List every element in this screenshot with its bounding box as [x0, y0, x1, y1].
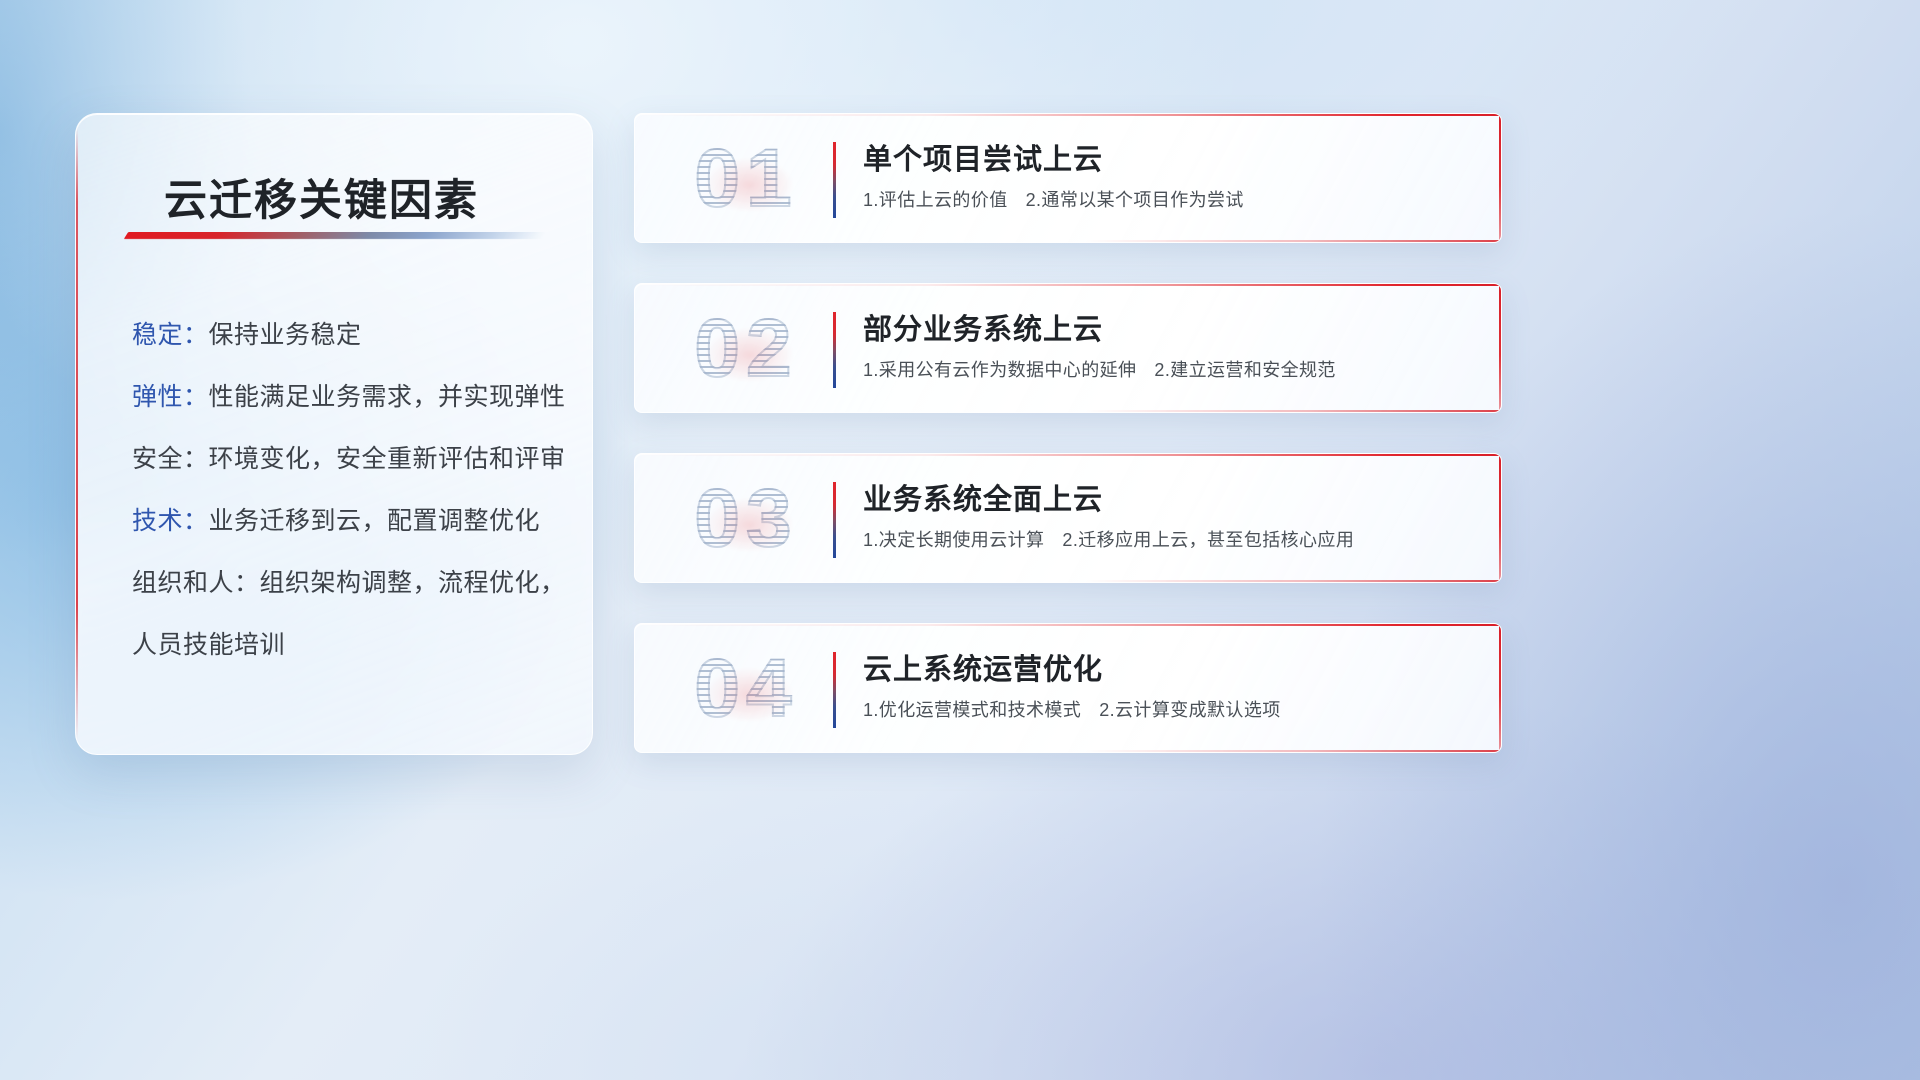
- factor-item-organization-continued: 人员技能培训: [132, 614, 564, 676]
- factor-text: 组织架构调整，流程优化，: [260, 569, 566, 597]
- card-bottom-accent-line: [635, 750, 1501, 752]
- factor-text: 人员技能培训: [132, 631, 285, 659]
- stage-card-04[interactable]: 04 云上系统运营优化 1.优化运营模式和技术模式2.云计算变成默认选项: [634, 623, 1502, 753]
- migration-stage-cards: 01 单个项目尝试上云 1.评估上云的价值2.通常以某个项目作为尝试 02 部分…: [634, 113, 1504, 793]
- factor-text: 性能满足业务需求，并实现弹性: [209, 383, 566, 411]
- factor-item-technology: 技术：业务迁移到云，配置调整优化: [132, 490, 564, 552]
- card-bottom-accent-line: [635, 410, 1501, 412]
- factor-text: 保持业务稳定: [209, 321, 362, 349]
- card-right-accent-line: [1499, 624, 1501, 752]
- stage-description-part-1: 1.优化运营模式和技术模式: [863, 700, 1081, 720]
- card-divider-bar: [833, 142, 836, 218]
- panel-title: 云迁移关键因素: [164, 166, 479, 228]
- card-right-accent-line: [1499, 454, 1501, 582]
- title-underline-decoration: [124, 232, 546, 239]
- stage-heading: 业务系统全面上云: [863, 476, 1103, 518]
- stage-description: 1.决定长期使用云计算2.迁移应用上云，甚至包括核心应用: [863, 526, 1354, 552]
- stage-heading: 部分业务系统上云: [863, 306, 1103, 348]
- factor-label: 技术：: [132, 507, 209, 535]
- stage-card-03[interactable]: 03 业务系统全面上云 1.决定长期使用云计算2.迁移应用上云，甚至包括核心应用: [634, 453, 1502, 583]
- stage-number-01: 01: [661, 130, 831, 228]
- factor-list: 稳定：保持业务稳定 弹性：性能满足业务需求，并实现弹性 安全：环境变化，安全重新…: [132, 304, 564, 676]
- stage-description-part-2: 2.建立运营和安全规范: [1154, 360, 1335, 380]
- factor-text: 环境变化，安全重新评估和评审: [209, 445, 566, 473]
- stage-description: 1.优化运营模式和技术模式2.云计算变成默认选项: [863, 696, 1281, 722]
- card-right-accent-line: [1499, 284, 1501, 412]
- factor-label: 组织和人：: [132, 569, 260, 597]
- stage-description-part-1: 1.决定长期使用云计算: [863, 530, 1044, 550]
- factor-label: 安全：: [132, 445, 209, 473]
- stage-card-02[interactable]: 02 部分业务系统上云 1.采用公有云作为数据中心的延伸2.建立运营和安全规范: [634, 283, 1502, 413]
- stage-card-01[interactable]: 01 单个项目尝试上云 1.评估上云的价值2.通常以某个项目作为尝试: [634, 113, 1502, 243]
- card-top-accent-line: [635, 624, 1501, 626]
- factor-text: 业务迁移到云，配置调整优化: [209, 507, 541, 535]
- factor-item-elasticity: 弹性：性能满足业务需求，并实现弹性: [132, 366, 564, 428]
- stage-heading: 单个项目尝试上云: [863, 136, 1103, 178]
- key-factors-panel: 云迁移关键因素 稳定：保持业务稳定 弹性：性能满足业务需求，并实现弹性 安全：环…: [75, 113, 593, 755]
- card-bottom-accent-line: [635, 580, 1501, 582]
- stage-heading: 云上系统运营优化: [863, 646, 1103, 688]
- stage-description-part-1: 1.采用公有云作为数据中心的延伸: [863, 360, 1136, 380]
- stage-description: 1.采用公有云作为数据中心的延伸2.建立运营和安全规范: [863, 356, 1336, 382]
- factor-item-stability: 稳定：保持业务稳定: [132, 304, 564, 366]
- factor-item-security: 安全：环境变化，安全重新评估和评审: [132, 428, 564, 490]
- stage-description-part-2: 2.云计算变成默认选项: [1099, 700, 1280, 720]
- stage-number-03: 03: [661, 470, 831, 568]
- card-divider-bar: [833, 312, 836, 388]
- card-divider-bar: [833, 652, 836, 728]
- stage-description-part-2: 2.迁移应用上云，甚至包括核心应用: [1062, 530, 1354, 550]
- stage-number-04: 04: [661, 640, 831, 738]
- card-divider-bar: [833, 482, 836, 558]
- stage-description: 1.评估上云的价值2.通常以某个项目作为尝试: [863, 186, 1244, 212]
- card-bottom-accent-line: [635, 240, 1501, 242]
- card-top-accent-line: [635, 284, 1501, 286]
- card-right-accent-line: [1499, 114, 1501, 242]
- factor-label: 弹性：: [132, 383, 209, 411]
- stage-number-02: 02: [661, 300, 831, 398]
- card-top-accent-line: [635, 454, 1501, 456]
- card-top-accent-line: [635, 114, 1501, 116]
- stage-description-part-2: 2.通常以某个项目作为尝试: [1026, 190, 1244, 210]
- factor-item-organization: 组织和人：组织架构调整，流程优化，: [132, 552, 564, 614]
- stage-description-part-1: 1.评估上云的价值: [863, 190, 1008, 210]
- factor-label: 稳定：: [132, 321, 209, 349]
- slide-stage: 云迁移关键因素 稳定：保持业务稳定 弹性：性能满足业务需求，并实现弹性 安全：环…: [0, 0, 1920, 1080]
